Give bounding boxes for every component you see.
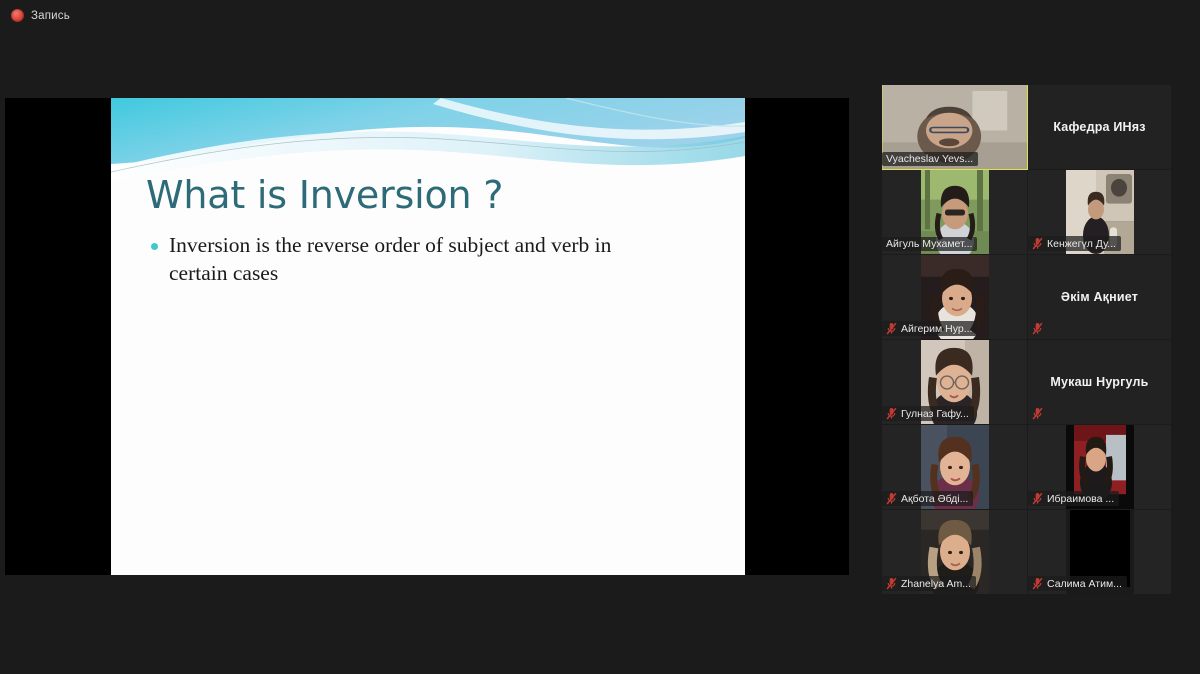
participant-name: Кафедра ИНяз bbox=[1028, 120, 1171, 134]
participant-tile[interactable]: Салима Атим... bbox=[1028, 510, 1172, 595]
mic-muted-icon bbox=[1032, 237, 1043, 250]
participant-name-bar: Ибраимова ... bbox=[1028, 491, 1119, 506]
participant-tile[interactable]: Айгерим Нур... bbox=[882, 255, 1028, 340]
mic-muted-icon bbox=[886, 577, 897, 590]
mic-muted-icon bbox=[886, 322, 897, 335]
slide-title: What is Inversion ? bbox=[146, 176, 503, 216]
mic-muted-badge bbox=[1032, 322, 1043, 335]
bullet-dot-icon bbox=[151, 243, 158, 250]
mic-muted-icon bbox=[886, 492, 897, 505]
slide-bullet-text: Inversion is the reverse order of subjec… bbox=[169, 232, 674, 288]
participant-name-bar: Ақбота Әбді... bbox=[882, 491, 973, 506]
participant-name-bar: Кенжегүл Ду... bbox=[1028, 236, 1121, 251]
participant-tile[interactable]: Ақбота Әбді... bbox=[882, 425, 1028, 510]
participant-name: Салима Атим... bbox=[1047, 578, 1122, 590]
meeting-top-bar: Запись bbox=[0, 0, 1200, 32]
slide-bullet-item: Inversion is the reverse order of subjec… bbox=[151, 232, 711, 288]
participant-name: Әкім Ақниет bbox=[1028, 290, 1171, 304]
participant-name: Vyacheslav Yevs... bbox=[886, 153, 973, 165]
participant-name: Гулназ Гафу... bbox=[901, 408, 969, 420]
participant-name: Мукаш Нургуль bbox=[1028, 375, 1171, 389]
zoom-meeting-window: Запись bbox=[0, 0, 1200, 674]
participant-tile[interactable]: Vyacheslav Yevs... bbox=[882, 85, 1028, 170]
recording-label: Запись bbox=[31, 10, 70, 22]
participant-tile[interactable]: Мукаш Нургуль bbox=[1028, 340, 1172, 425]
participant-name-bar: Vyacheslav Yevs... bbox=[882, 152, 978, 166]
recording-indicator[interactable]: Запись bbox=[11, 9, 70, 22]
participant-tile[interactable]: Кафедра ИНяз bbox=[1028, 85, 1172, 170]
participant-name-bar: Айгуль Мухамет... bbox=[882, 237, 977, 251]
participant-name: Ақбота Әбді... bbox=[901, 493, 968, 505]
participant-tile[interactable]: Кенжегүл Ду... bbox=[1028, 170, 1172, 255]
participant-name: Айгуль Мухамет... bbox=[886, 238, 972, 250]
participant-tile[interactable]: Ибраимова ... bbox=[1028, 425, 1172, 510]
mic-muted-icon bbox=[1032, 322, 1043, 335]
record-dot-icon bbox=[11, 9, 24, 22]
mic-muted-icon bbox=[1032, 577, 1043, 590]
shared-screen-stage[interactable]: What is Inversion ? Inversion is the rev… bbox=[5, 98, 849, 575]
presentation-slide: What is Inversion ? Inversion is the rev… bbox=[111, 98, 745, 575]
mic-muted-icon bbox=[1032, 407, 1043, 420]
participant-name: Zhanelya Am... bbox=[901, 578, 971, 590]
participant-name: Кенжегүл Ду... bbox=[1047, 238, 1116, 250]
mic-muted-badge bbox=[1032, 407, 1043, 420]
participant-name-bar: Гулназ Гафу... bbox=[882, 406, 974, 421]
participant-name-bar: Айгерим Нур... bbox=[882, 321, 977, 336]
participant-tile[interactable]: Гулназ Гафу... bbox=[882, 340, 1028, 425]
participant-name: Ибраимова ... bbox=[1047, 493, 1114, 505]
mic-muted-icon bbox=[886, 407, 897, 420]
participant-name-bar: Zhanelya Am... bbox=[882, 576, 976, 591]
participant-name: Айгерим Нур... bbox=[901, 323, 972, 335]
participant-tile[interactable]: Айгуль Мухамет... bbox=[882, 170, 1028, 255]
participant-name-bar: Салима Атим... bbox=[1028, 576, 1127, 591]
participant-tile[interactable]: Әкім Ақниет bbox=[1028, 255, 1172, 340]
participant-filmstrip[interactable]: Vyacheslav Yevs... Кафедра ИНяз Айгуль М… bbox=[882, 85, 1172, 595]
mic-muted-icon bbox=[1032, 492, 1043, 505]
participant-tile[interactable]: Zhanelya Am... bbox=[882, 510, 1028, 595]
